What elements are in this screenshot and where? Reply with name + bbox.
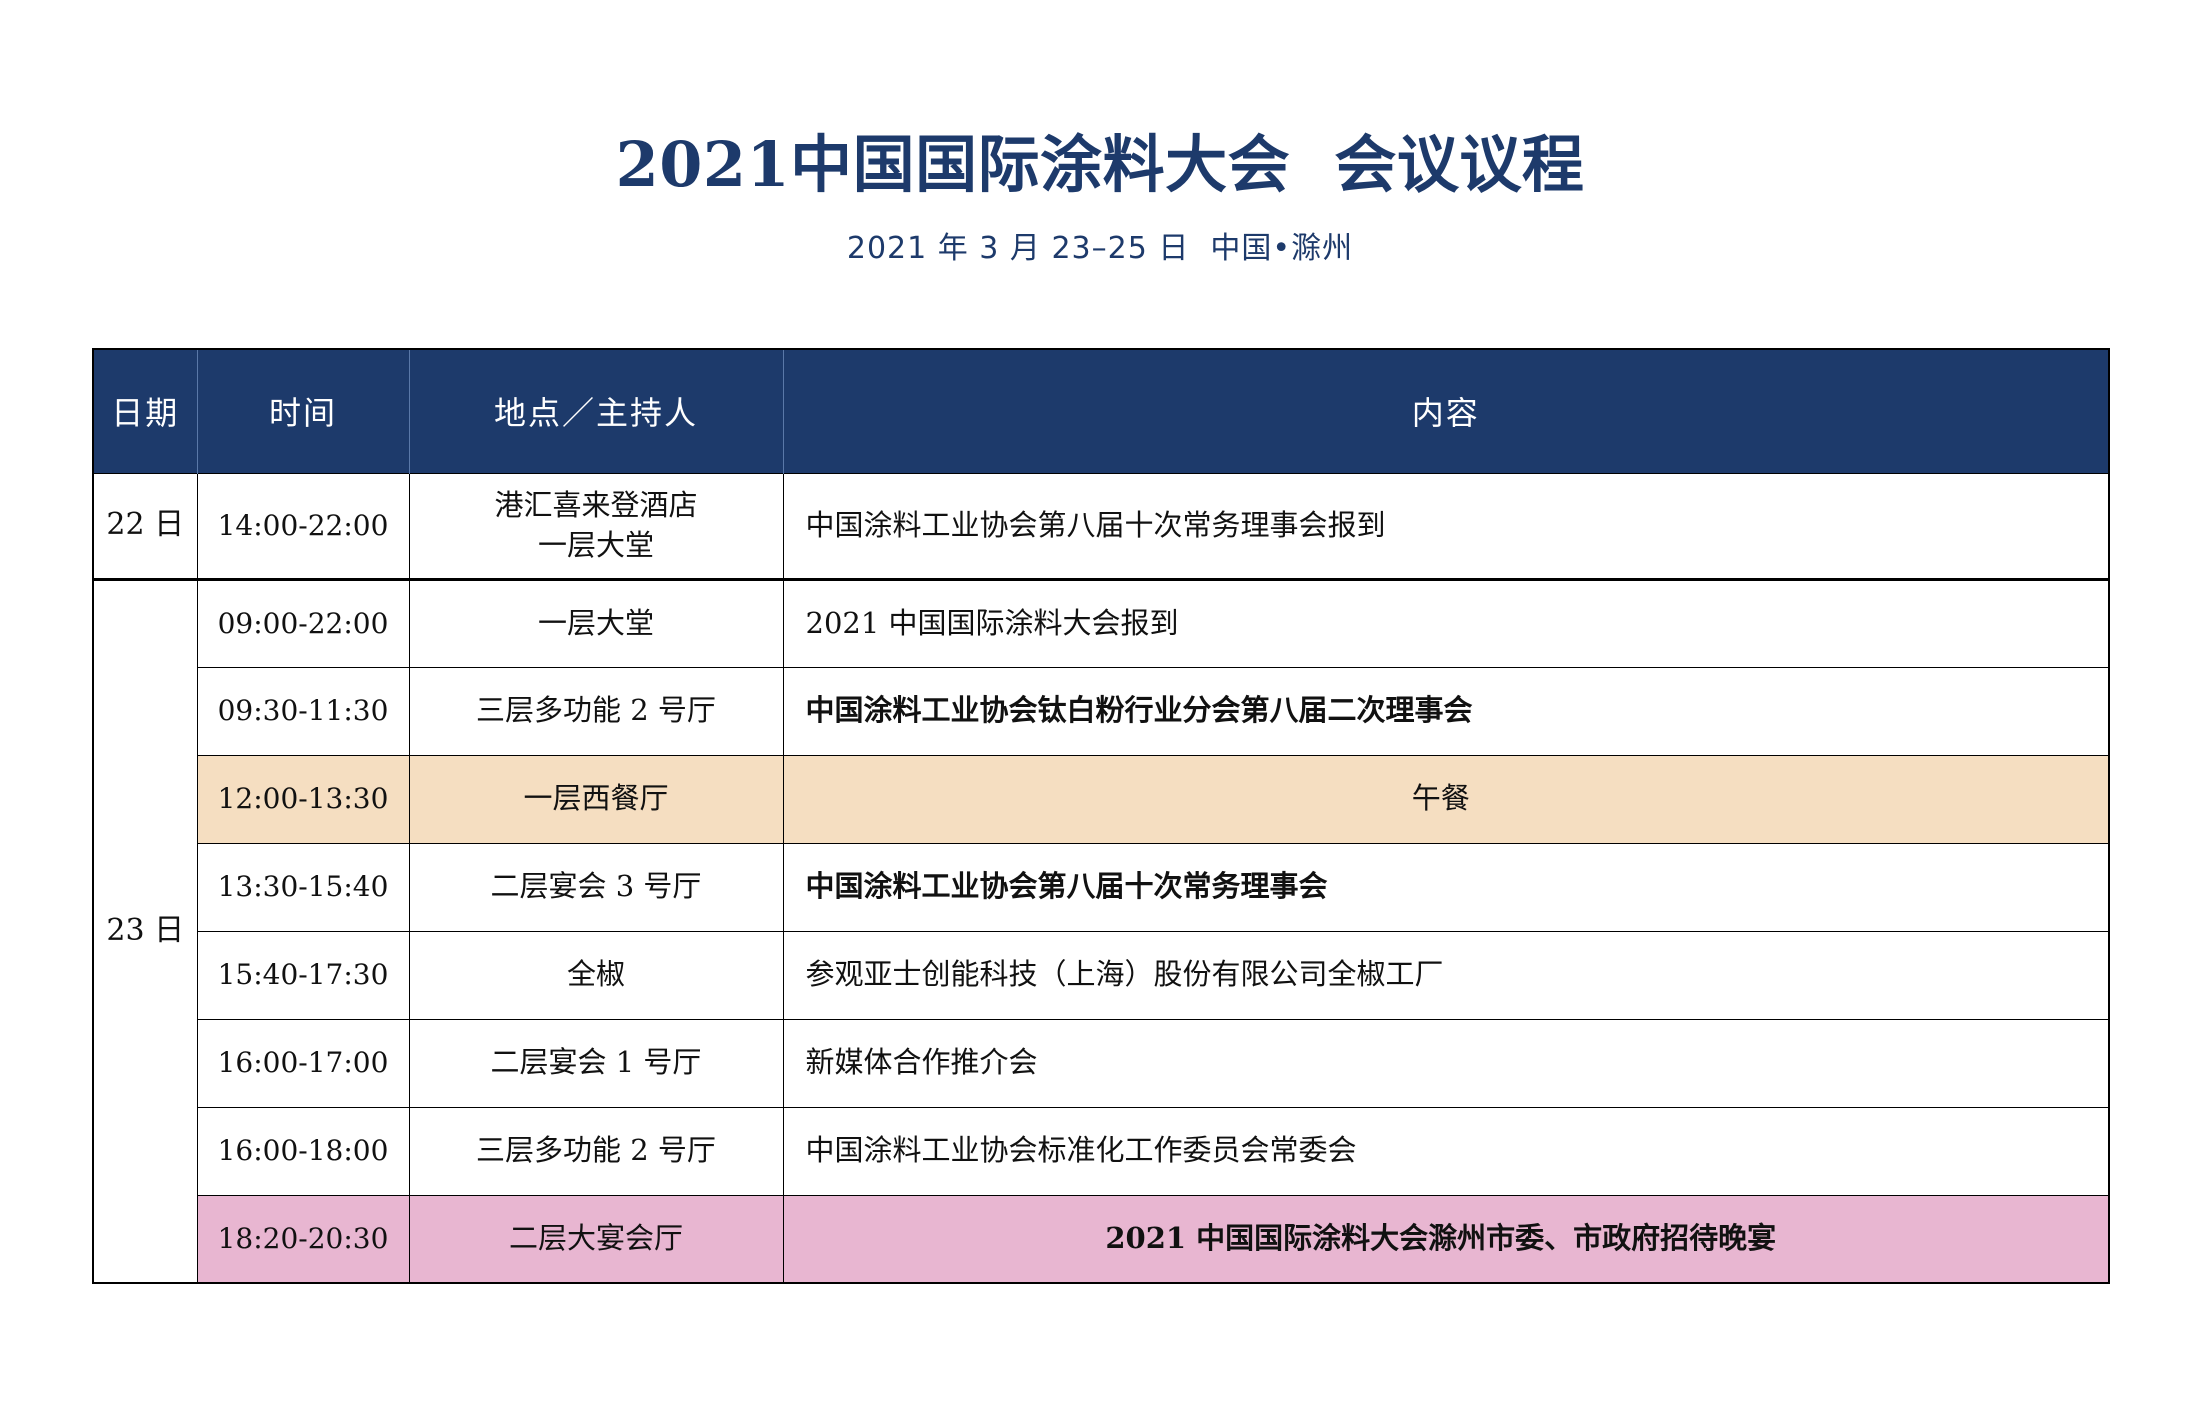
cell-date: 23 日 — [93, 579, 197, 1283]
cell-time: 16:00-17:00 — [197, 1019, 409, 1107]
cell-content: 参观亚士创能科技（上海）股份有限公司全椒工厂 — [783, 931, 2109, 1019]
table-row: 13:30-15:40 二层宴会 3 号厅 中国涂料工业协会第八届十次常务理事会 — [93, 843, 2109, 931]
cell-content: 2021 中国国际涂料大会滁州市委、市政府招待晚宴 — [783, 1195, 2109, 1283]
cell-date: 22 日 — [93, 473, 197, 579]
column-header-place: 地点／主持人 — [409, 349, 783, 473]
cell-place: 全椒 — [409, 931, 783, 1019]
table-row: 16:00-17:00 二层宴会 1 号厅 新媒体合作推介会 — [93, 1019, 2109, 1107]
cell-content: 2021 中国国际涂料大会报到 — [783, 579, 2109, 667]
table-row-lunch: 12:00-13:30 一层西餐厅 午餐 — [93, 755, 2109, 843]
cell-time: 18:20-20:30 — [197, 1195, 409, 1283]
agenda-table-wrapper: 日期 时间 地点／主持人 内容 22 日 14:00-22:00 港汇喜来登酒店… — [92, 348, 2110, 1284]
cell-place: 一层西餐厅 — [409, 755, 783, 843]
cell-place: 二层大宴会厅 — [409, 1195, 783, 1283]
cell-content: 新媒体合作推介会 — [783, 1019, 2109, 1107]
table-header: 日期 时间 地点／主持人 内容 — [93, 349, 2109, 473]
table-row: 22 日 14:00-22:00 港汇喜来登酒店 一层大堂 中国涂料工业协会第八… — [93, 473, 2109, 579]
page-subtitle: 2021 年 3 月 23–25 日 中国•滁州 — [0, 197, 2200, 267]
cell-place: 二层宴会 3 号厅 — [409, 843, 783, 931]
cell-place: 港汇喜来登酒店 一层大堂 — [409, 473, 783, 579]
table-row: 09:30-11:30 三层多功能 2 号厅 中国涂料工业协会钛白粉行业分会第八… — [93, 667, 2109, 755]
column-header-time: 时间 — [197, 349, 409, 473]
table-row: 23 日 09:00-22:00 一层大堂 2021 中国国际涂料大会报到 — [93, 579, 2109, 667]
table-header-row: 日期 时间 地点／主持人 内容 — [93, 349, 2109, 473]
cell-content: 中国涂料工业协会第八届十次常务理事会 — [783, 843, 2109, 931]
cell-place: 一层大堂 — [409, 579, 783, 667]
cell-content: 中国涂料工业协会标准化工作委员会常委会 — [783, 1107, 2109, 1195]
title-block: 2021中国国际涂料大会 会议议程 2021 年 3 月 23–25 日 中国•… — [0, 0, 2200, 267]
agenda-page: 2021中国国际涂料大会 会议议程 2021 年 3 月 23–25 日 中国•… — [0, 0, 2200, 1416]
agenda-table: 日期 时间 地点／主持人 内容 22 日 14:00-22:00 港汇喜来登酒店… — [92, 348, 2110, 1284]
cell-time: 13:30-15:40 — [197, 843, 409, 931]
cell-content: 中国涂料工业协会钛白粉行业分会第八届二次理事会 — [783, 667, 2109, 755]
cell-time: 14:00-22:00 — [197, 473, 409, 579]
table-row-dinner: 18:20-20:30 二层大宴会厅 2021 中国国际涂料大会滁州市委、市政府… — [93, 1195, 2109, 1283]
cell-time: 09:30-11:30 — [197, 667, 409, 755]
cell-time: 15:40-17:30 — [197, 931, 409, 1019]
column-header-content: 内容 — [783, 349, 2109, 473]
cell-place: 二层宴会 1 号厅 — [409, 1019, 783, 1107]
cell-place: 三层多功能 2 号厅 — [409, 667, 783, 755]
cell-content: 中国涂料工业协会第八届十次常务理事会报到 — [783, 473, 2109, 579]
table-row: 16:00-18:00 三层多功能 2 号厅 中国涂料工业协会标准化工作委员会常… — [93, 1107, 2109, 1195]
table-body: 22 日 14:00-22:00 港汇喜来登酒店 一层大堂 中国涂料工业协会第八… — [93, 473, 2109, 1283]
cell-content: 午餐 — [783, 755, 2109, 843]
cell-time: 12:00-13:30 — [197, 755, 409, 843]
cell-time: 09:00-22:00 — [197, 579, 409, 667]
page-title: 2021中国国际涂料大会 会议议程 — [0, 132, 2200, 197]
cell-place: 三层多功能 2 号厅 — [409, 1107, 783, 1195]
cell-time: 16:00-18:00 — [197, 1107, 409, 1195]
table-row: 15:40-17:30 全椒 参观亚士创能科技（上海）股份有限公司全椒工厂 — [93, 931, 2109, 1019]
column-header-date: 日期 — [93, 349, 197, 473]
